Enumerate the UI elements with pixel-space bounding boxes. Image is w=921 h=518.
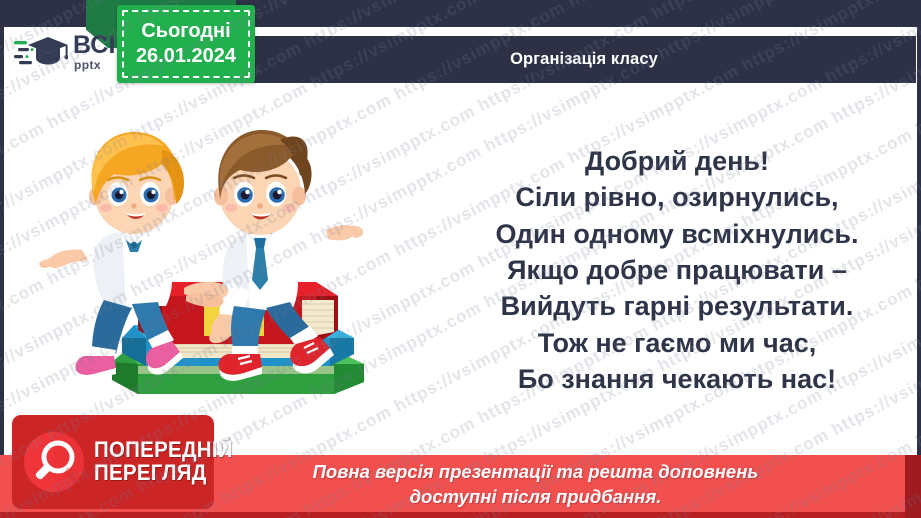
banner-line-1: Повна версія презентації та решта доповн… <box>313 460 759 484</box>
poem-block: Добрий день! Сіли рівно, озирнулись, Оди… <box>442 143 912 397</box>
banner-right-edge <box>905 455 921 518</box>
poem-line: Якщо добре працювати – <box>442 252 912 288</box>
poem-line: Один одному всміхнулись. <box>442 216 912 252</box>
preview-badge-line-1: ПОПЕРЕДНІЙ <box>94 439 233 462</box>
date-badge-label: Сьогодні <box>141 20 230 43</box>
poem-line: Сіли рівно, озирнулись, <box>442 179 912 215</box>
magnifier-icon <box>22 430 86 494</box>
slide-root: ВСІМ pptx Сьогодні 26.01.2024 Організаці… <box>0 0 921 518</box>
page-title: Організація класу <box>510 50 658 69</box>
graduation-cap-icon <box>14 33 68 71</box>
preview-badge: ПОПЕРЕДНІЙ ПЕРЕГЛЯД <box>12 415 214 509</box>
banner-line-2: доступні після придбання. <box>410 485 662 509</box>
poem-line: Тож не гаємо ми час, <box>442 325 912 361</box>
brand-logo: ВСІМ pptx <box>14 31 132 73</box>
date-badge-value: 26.01.2024 <box>136 45 236 68</box>
today-date-badge: Сьогодні 26.01.2024 <box>117 5 255 83</box>
poem-line: Добрий день! <box>442 143 912 179</box>
slide-title-bar: Організація класу <box>252 36 916 83</box>
poem-line: Бо знання чекають нас! <box>442 361 912 397</box>
preview-badge-line-2: ПЕРЕГЛЯД <box>94 462 233 485</box>
children-illustration <box>34 82 434 412</box>
poem-line: Вийдуть гарні результати. <box>442 288 912 324</box>
